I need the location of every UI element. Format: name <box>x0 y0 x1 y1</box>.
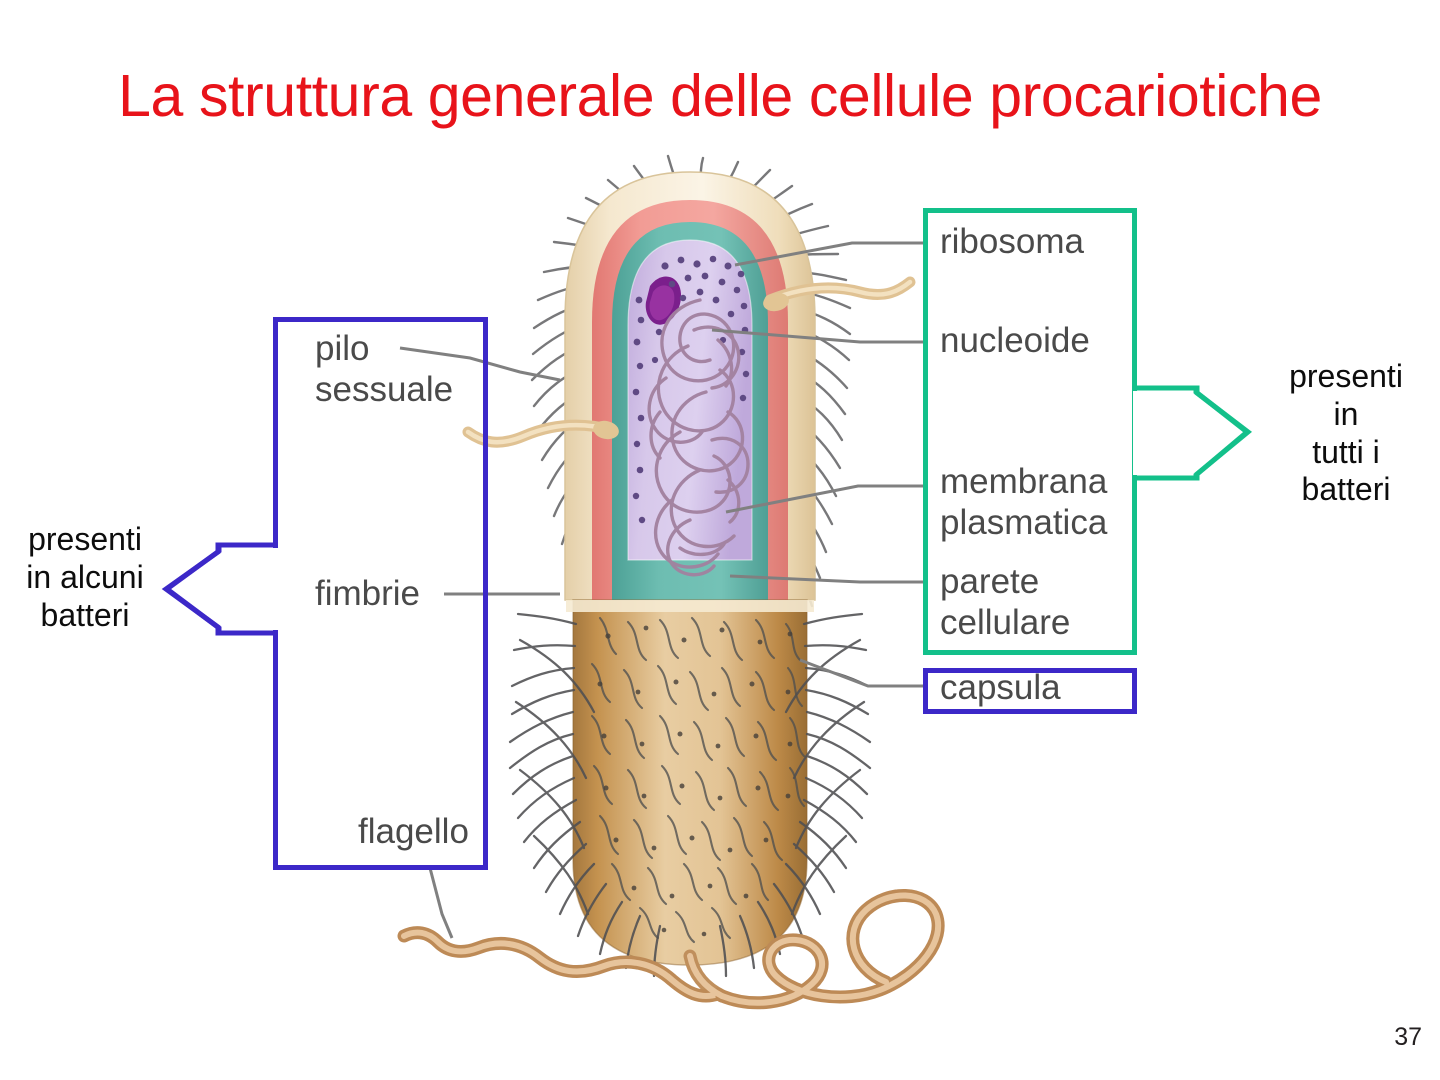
note-some-bacteria: presenti in alcuni batteri <box>6 521 164 634</box>
label-membrana-plasmatica: membrana plasmatica <box>940 462 1107 543</box>
label-ribosoma: ribosoma <box>940 222 1084 263</box>
leader-nucleoide <box>712 330 928 342</box>
arrow-left-blue <box>166 545 273 633</box>
note-all-bacteria: presenti in tutti i batteri <box>1258 358 1434 509</box>
label-parete-cellulare: parete cellulare <box>940 562 1070 643</box>
slide-canvas: La struttura generale delle cellule proc… <box>0 0 1440 1080</box>
label-capsula: capsula <box>940 668 1061 709</box>
label-fimbrie: fimbrie <box>315 574 420 615</box>
label-pilo-sessuale: pilo sessuale <box>315 329 453 410</box>
label-nucleoide: nucleoide <box>940 321 1090 362</box>
box-green-arrow-gap <box>1133 391 1143 475</box>
label-flagello: flagello <box>358 812 469 853</box>
leader-membrana <box>726 486 928 512</box>
leader-parete <box>730 576 928 582</box>
box-blue-arrow-gap <box>269 548 279 630</box>
leader-flagello <box>430 868 452 938</box>
leader-ribosoma <box>735 243 928 265</box>
bacterial-cell-illustration <box>0 0 1440 1080</box>
leader-lines <box>0 0 1440 1080</box>
group-arrows <box>0 0 1440 1080</box>
leader-capsula <box>800 660 928 686</box>
page-number: 37 <box>1394 1023 1422 1052</box>
arrow-right-teal <box>1137 388 1248 478</box>
page-title: La struttura generale delle cellule proc… <box>0 66 1440 128</box>
